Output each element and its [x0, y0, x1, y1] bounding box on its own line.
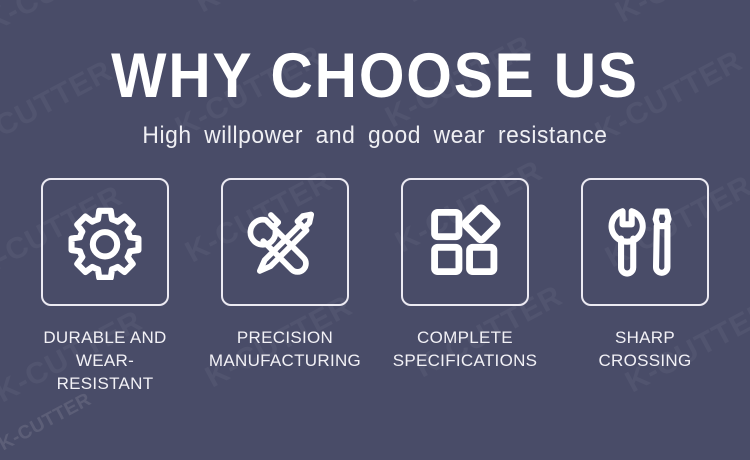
wrench-screwdriver-crossed-icon: [247, 204, 323, 280]
icon-box: [221, 178, 349, 306]
feature-label: SHARP CROSSING: [598, 326, 691, 372]
icon-box: [41, 178, 169, 306]
feature-list: DURABLE AND WEAR-RESISTANT PRECISION MAN…: [0, 178, 750, 395]
feature-item-complete-specifications[interactable]: COMPLETE SPECIFICATIONS: [401, 178, 529, 372]
why-choose-us-banner: K-CUTTER K-CUTTER K-CUTTER K-CUTTER K-CU…: [0, 0, 750, 460]
feature-item-durable-wear-resistant[interactable]: DURABLE AND WEAR-RESISTANT: [41, 178, 169, 395]
feature-label: DURABLE AND WEAR-RESISTANT: [41, 326, 169, 395]
shapes-grid-icon: [427, 204, 503, 280]
feature-item-sharp-crossing[interactable]: SHARP CROSSING: [581, 178, 709, 372]
banner-header: WHY CHOOSE US High willpower and good we…: [0, 0, 750, 150]
page-subtitle: High willpower and good wear resistance: [19, 122, 732, 150]
icon-box: [581, 178, 709, 306]
feature-item-precision-manufacturing[interactable]: PRECISION MANUFACTURING: [221, 178, 349, 372]
wrench-screwdriver-parallel-icon: [607, 204, 683, 280]
gear-icon: [67, 204, 143, 280]
feature-label: PRECISION MANUFACTURING: [209, 326, 361, 372]
feature-label: COMPLETE SPECIFICATIONS: [393, 326, 538, 372]
brand-watermark: K-CUTTER: [0, 389, 95, 456]
icon-box: [401, 178, 529, 306]
page-title: WHY CHOOSE US: [26, 44, 724, 108]
